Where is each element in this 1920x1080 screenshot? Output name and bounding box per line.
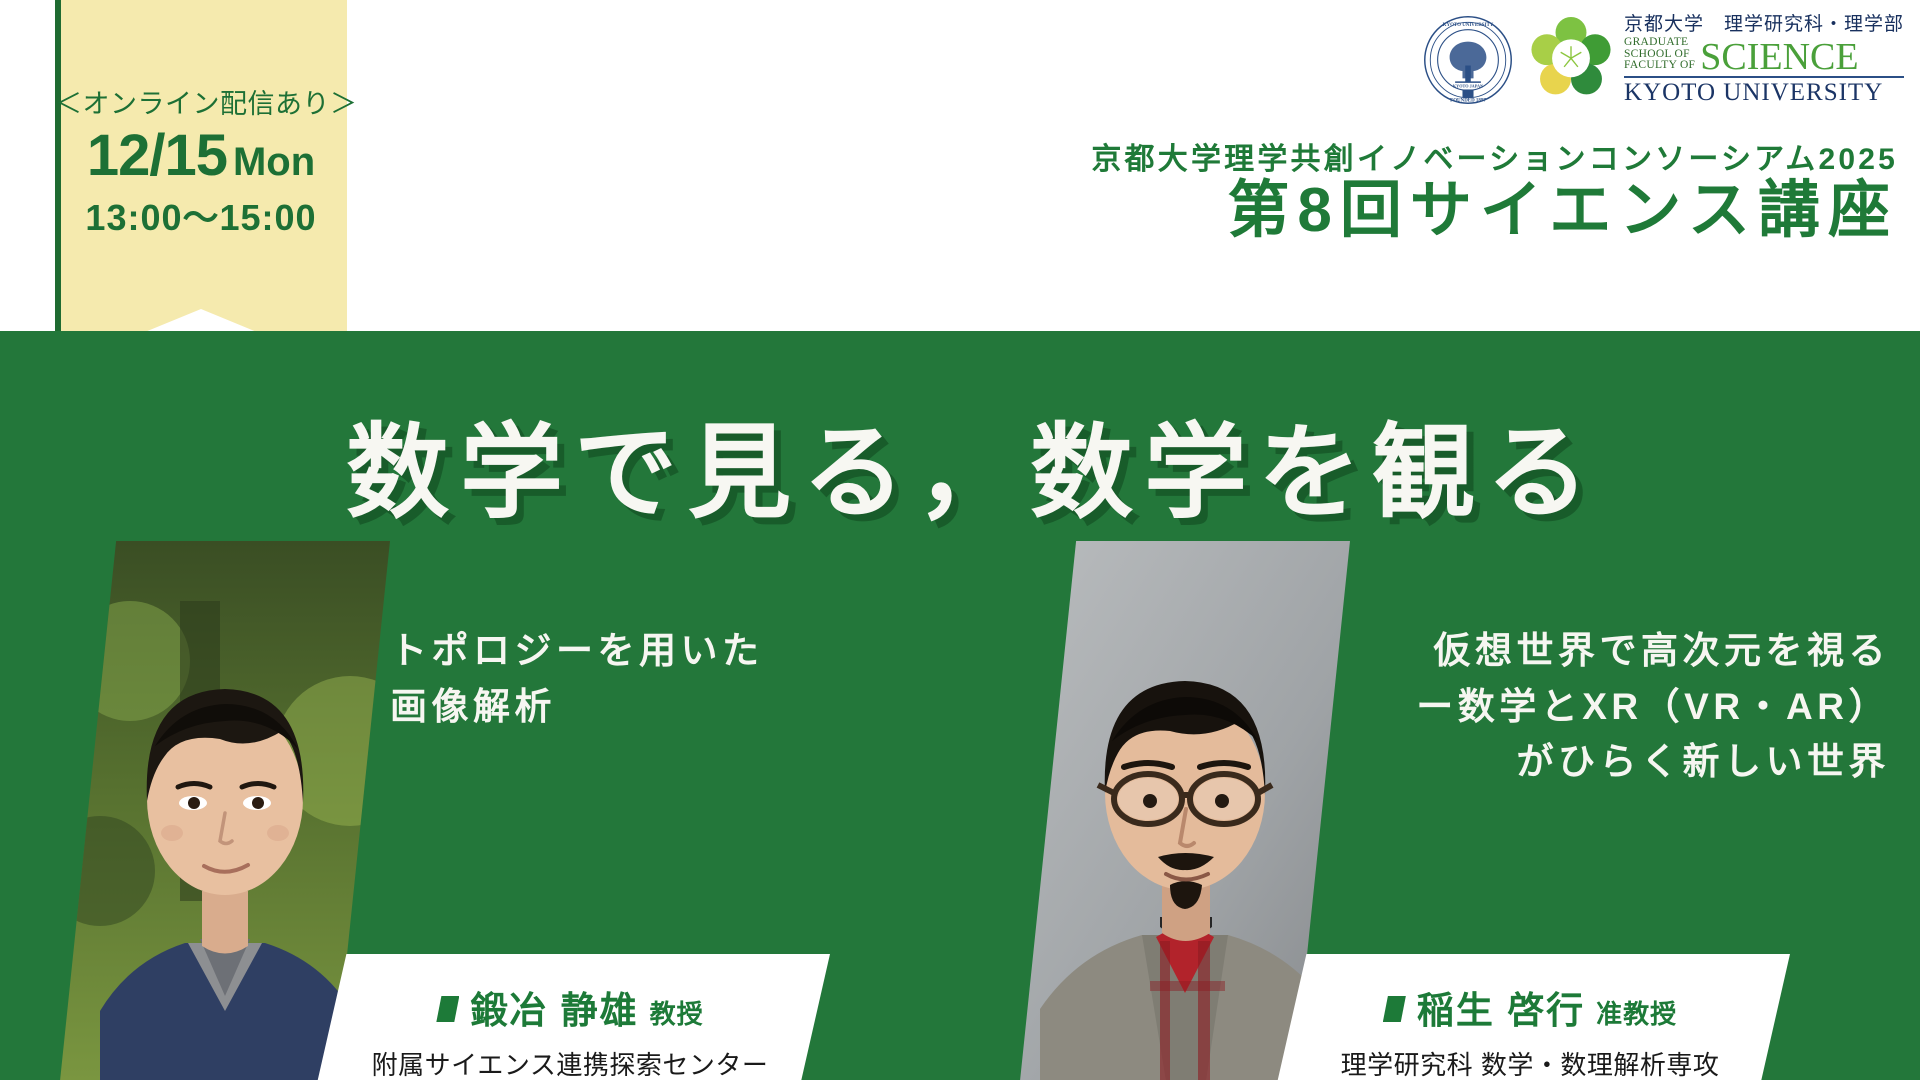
event-date: 12/15Mon [55,126,347,187]
talk-title-inou: 仮想世界で高次元を視る ー数学とXR（VR・AR） がひらく新しい世界 [1330,623,1890,790]
logo-group: KYOTO UNIVERSITY FOUNDED 1897 KYOTO JAPA… [1422,14,1904,106]
speaker-block-right: 仮想世界で高次元を視る ー数学とXR（VR・AR） がひらく新しい世界 稲生 啓… [1020,541,1920,1080]
poster-header: ＜オンライン配信あり＞ 12/15Mon 13:00〜15:00 KYOTO U… [0,0,1920,331]
green-parallelogram-bullet-icon [1383,996,1406,1022]
online-streaming-note: ＜オンライン配信あり＞ [55,90,347,120]
gsos-kyoto-university-word: KYOTO UNIVERSITY [1624,80,1904,105]
green-parallelogram-bullet-icon [436,996,459,1022]
gsos-science-word: SCIENCE [1700,41,1858,74]
name-banner-inou: 稲生 啓行 准教授 理学研究科 数学・数理解析専攻 [1270,954,1790,1080]
talk-title-inou-line-3: がひらく新しい世界 [1330,734,1890,790]
poster-body: 数学で見る，数学を観る [0,331,1920,1080]
graduate-school-of-science-logo: 京都大学 理学研究科・理学部 GRADUATE SCHOOL OF FACULT… [1528,15,1904,105]
svg-text:KYOTO UNIVERSITY: KYOTO UNIVERSITY [1443,23,1494,28]
speaker-name-inou: 稲生 啓行 [1417,980,1585,1034]
speaker-name-kaji: 鍛冶 静雄 [470,980,638,1034]
speaker-rank-inou: 准教授 [1596,994,1677,1031]
kyoto-university-seal-icon: KYOTO UNIVERSITY FOUNDED 1897 KYOTO JAPA… [1422,14,1514,106]
event-day-of-week: Mon [233,140,315,184]
speaker-affiliation-kaji: 附属サイエンス連携探索センター [310,1045,830,1080]
talk-title-kaji-line-1: トポロジーを用いた [390,623,764,679]
name-row-kaji: 鍛冶 静雄 教授 [310,980,830,1034]
speaker-block-left: トポロジーを用いた 画像解析 鍛冶 静雄 教授 附属サイエンス連携探索センター [60,541,960,1080]
lecture-series-title: 第8回サイエンス講座 [1227,178,1898,243]
talk-title-kaji: トポロジーを用いた 画像解析 [390,623,764,734]
poster-main-title: 数学で見る，数学を観る [0,417,1920,528]
speaker-affiliation-inou: 理学研究科 数学・数理解析専攻 [1270,1045,1790,1080]
name-banner-kaji: 鍛冶 静雄 教授 附属サイエンス連携探索センター [310,954,830,1080]
event-date-value: 12/15 [87,123,227,188]
talk-title-inou-line-2: ー数学とXR（VR・AR） [1330,679,1890,735]
gsos-divider [1624,76,1904,78]
name-row-inou: 稲生 啓行 准教授 [1270,980,1790,1034]
svg-text:FOUNDED 1897: FOUNDED 1897 [1450,98,1486,103]
talk-title-inou-line-1: 仮想世界で高次元を視る [1330,623,1890,679]
talk-title-kaji-line-2: 画像解析 [390,679,764,735]
speaker-rank-kaji: 教授 [650,994,704,1031]
gsos-faculty-of-label: FACULTY OF [1624,60,1695,72]
date-ribbon-content: ＜オンライン配信あり＞ 12/15Mon 13:00〜15:00 [55,0,347,369]
gsos-japanese-line: 京都大学 理学研究科・理学部 [1624,15,1904,34]
svg-text:KYOTO JAPAN: KYOTO JAPAN [1453,84,1483,89]
science-flower-mark-icon [1528,17,1614,103]
event-time: 13:00〜15:00 [55,189,347,241]
gsos-graduate-label: GRADUATE [1624,37,1695,49]
consortium-line: 京都大学理学共創イノベーションコンソーシアム2025 [1091,134,1898,178]
